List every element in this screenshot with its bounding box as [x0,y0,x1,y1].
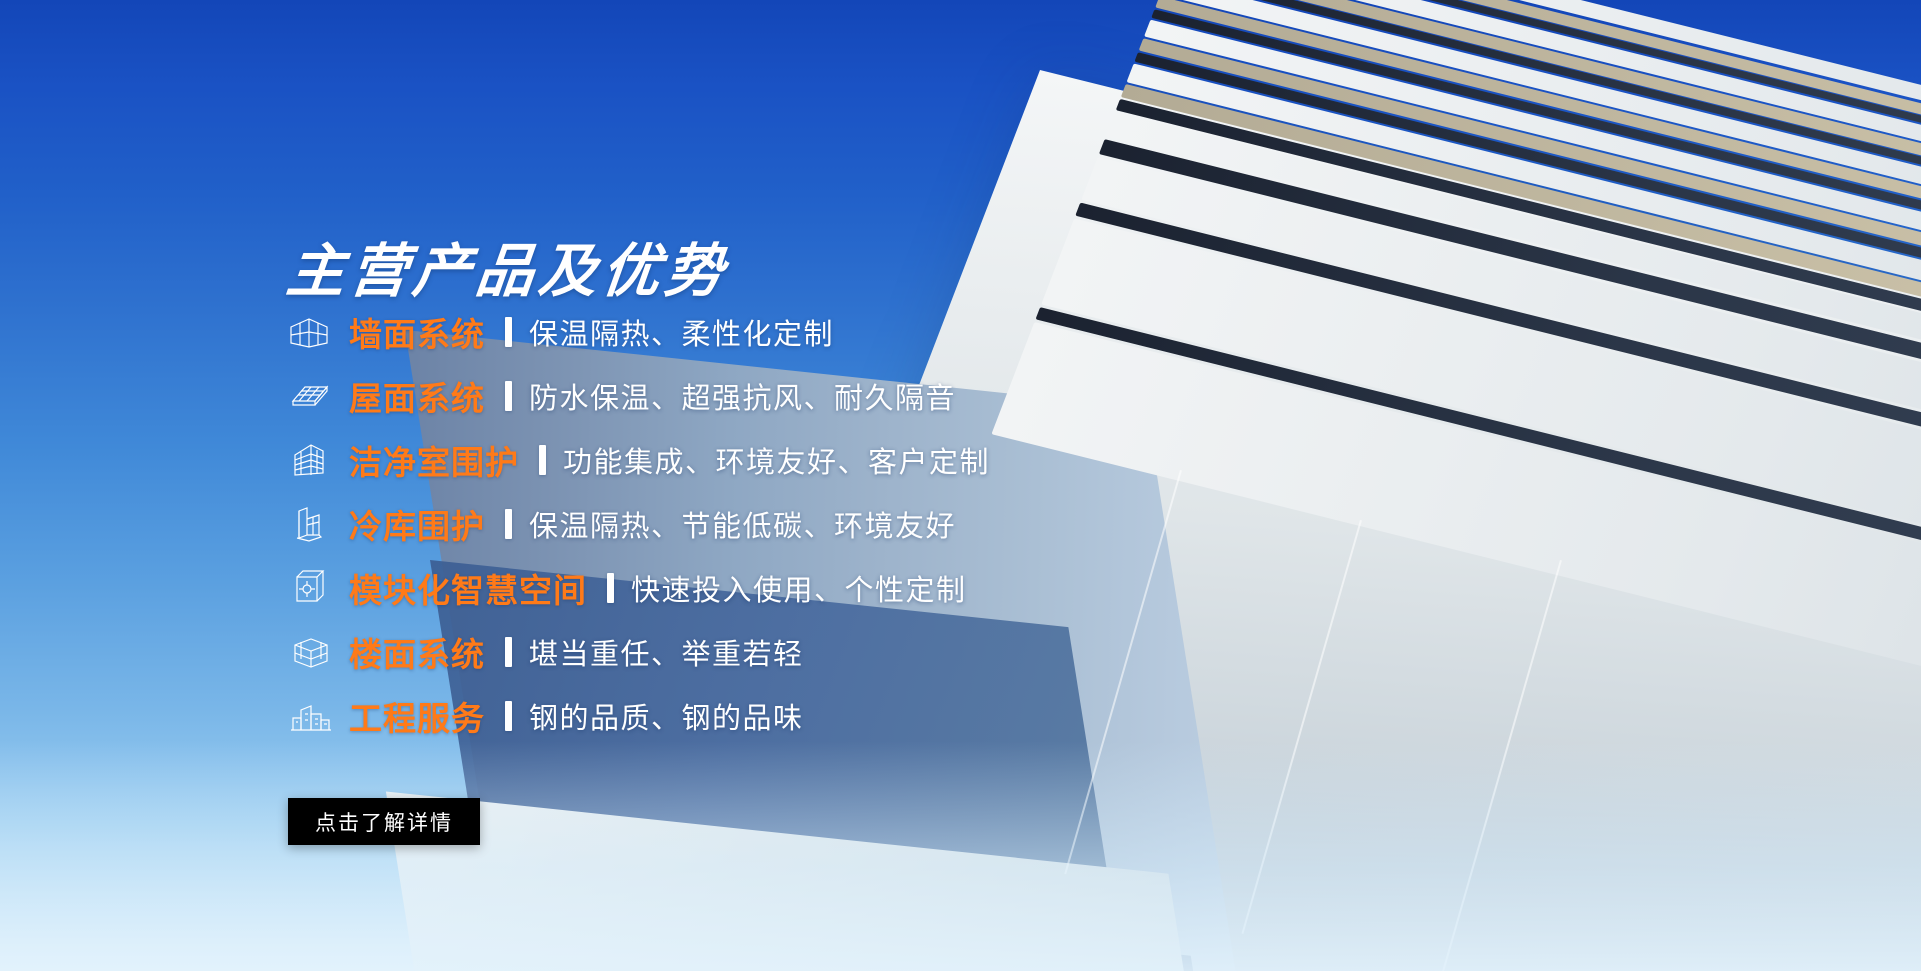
separator-bar [505,509,512,539]
roof-system-icon [287,374,339,418]
product-name: 冷库围护 [349,500,485,548]
separator-bar [505,637,512,667]
banner-content: 主营产品及优势 墙面系统 保温隔热、柔性化定制 [0,0,1921,971]
product-name: 楼面系统 [349,628,485,676]
product-row-cold-storage-enclosure[interactable]: 冷库围护 保温隔热、节能低碳、环境友好 [287,492,1247,556]
product-name: 工程服务 [349,692,485,740]
product-row-roof-system[interactable]: 屋面系统 防水保温、超强抗风、耐久隔音 [287,364,1247,428]
modular-smart-space-icon [287,566,339,610]
page-title: 主营产品及优势 [284,242,731,300]
separator-bar [505,381,512,411]
product-name: 模块化智慧空间 [349,564,587,612]
product-desc: 防水保温、超强抗风、耐久隔音 [529,375,956,417]
learn-more-button[interactable]: 点击了解详情 [288,798,480,845]
floor-system-icon [287,630,339,674]
separator-bar [505,317,512,347]
product-row-engineering-service[interactable]: 工程服务 钢的品质、钢的品味 [287,684,1247,748]
cleanroom-enclosure-icon [287,438,339,482]
product-desc: 快速投入使用、个性定制 [631,567,967,609]
product-desc: 堪当重任、举重若轻 [529,631,804,673]
product-desc: 保温隔热、节能低碳、环境友好 [529,503,956,545]
product-name: 屋面系统 [349,372,485,420]
product-name: 墙面系统 [349,308,485,356]
product-name: 洁净室围护 [349,436,519,484]
product-row-wall-system[interactable]: 墙面系统 保温隔热、柔性化定制 [287,300,1247,364]
product-row-modular-smart-space[interactable]: 模块化智慧空间 快速投入使用、个性定制 [287,556,1247,620]
separator-bar [607,573,614,603]
separator-bar [505,701,512,731]
product-desc: 保温隔热、柔性化定制 [529,311,834,353]
product-list: 墙面系统 保温隔热、柔性化定制 屋面系统 [287,300,1247,748]
cold-storage-enclosure-icon [287,502,339,546]
separator-bar [539,445,546,475]
product-desc: 钢的品质、钢的品味 [529,695,804,737]
product-row-cleanroom-enclosure[interactable]: 洁净室围护 功能集成、环境友好、客户定制 [287,428,1247,492]
product-desc: 功能集成、环境友好、客户定制 [563,439,990,481]
engineering-service-icon [287,694,339,738]
product-advantages-banner: 主营产品及优势 墙面系统 保温隔热、柔性化定制 [0,0,1921,971]
product-row-floor-system[interactable]: 楼面系统 堪当重任、举重若轻 [287,620,1247,684]
wall-system-icon [287,310,339,354]
